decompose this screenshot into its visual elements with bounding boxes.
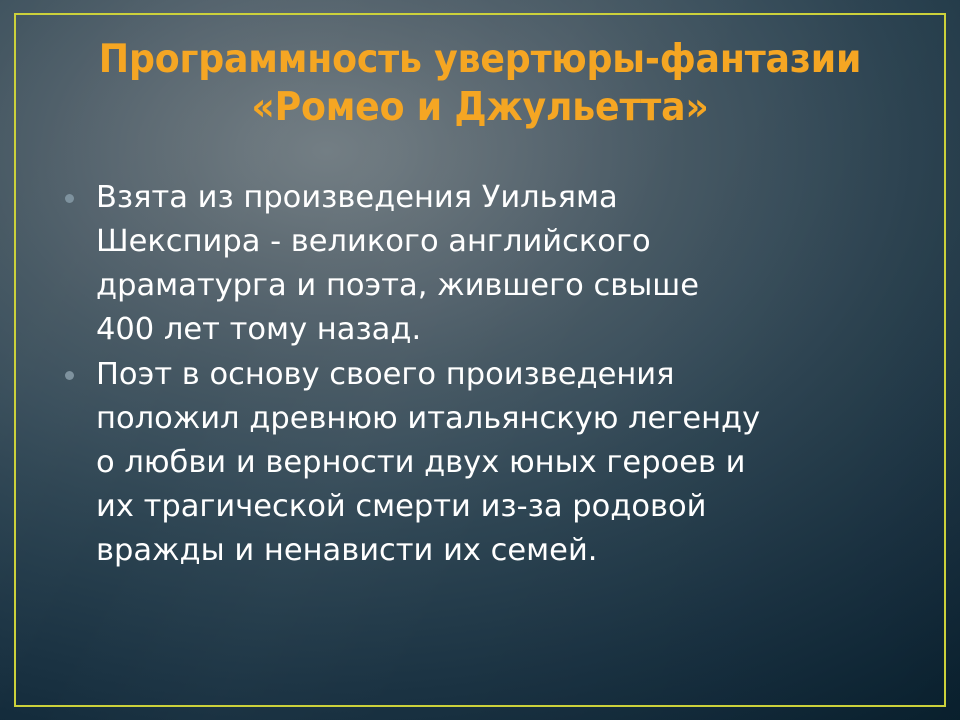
list-item-text: Взята из произведения Уильяма Шекспира -… (96, 176, 940, 352)
slide-title: Программность увертюры-фантазии «Ромео и… (34, 36, 927, 132)
list-item-text: Поэт в основу своего произведения положи… (96, 353, 940, 573)
slide-body: Взята из произведения Уильяма Шекспира -… (60, 176, 940, 573)
slide-title-line-1: Программность увертюры-фантазии (34, 36, 927, 84)
slide-content: Программность увертюры-фантазии «Ромео и… (0, 0, 960, 720)
list-item: Поэт в основу своего произведения положи… (60, 353, 940, 573)
bullet-dot-icon (65, 194, 74, 203)
presentation-slide: Программность увертюры-фантазии «Ромео и… (0, 0, 960, 720)
list-item: Взята из произведения Уильяма Шекспира -… (60, 176, 940, 352)
slide-title-line-2: «Ромео и Джульетта» (34, 84, 927, 132)
bullet-dot-icon (65, 371, 74, 380)
